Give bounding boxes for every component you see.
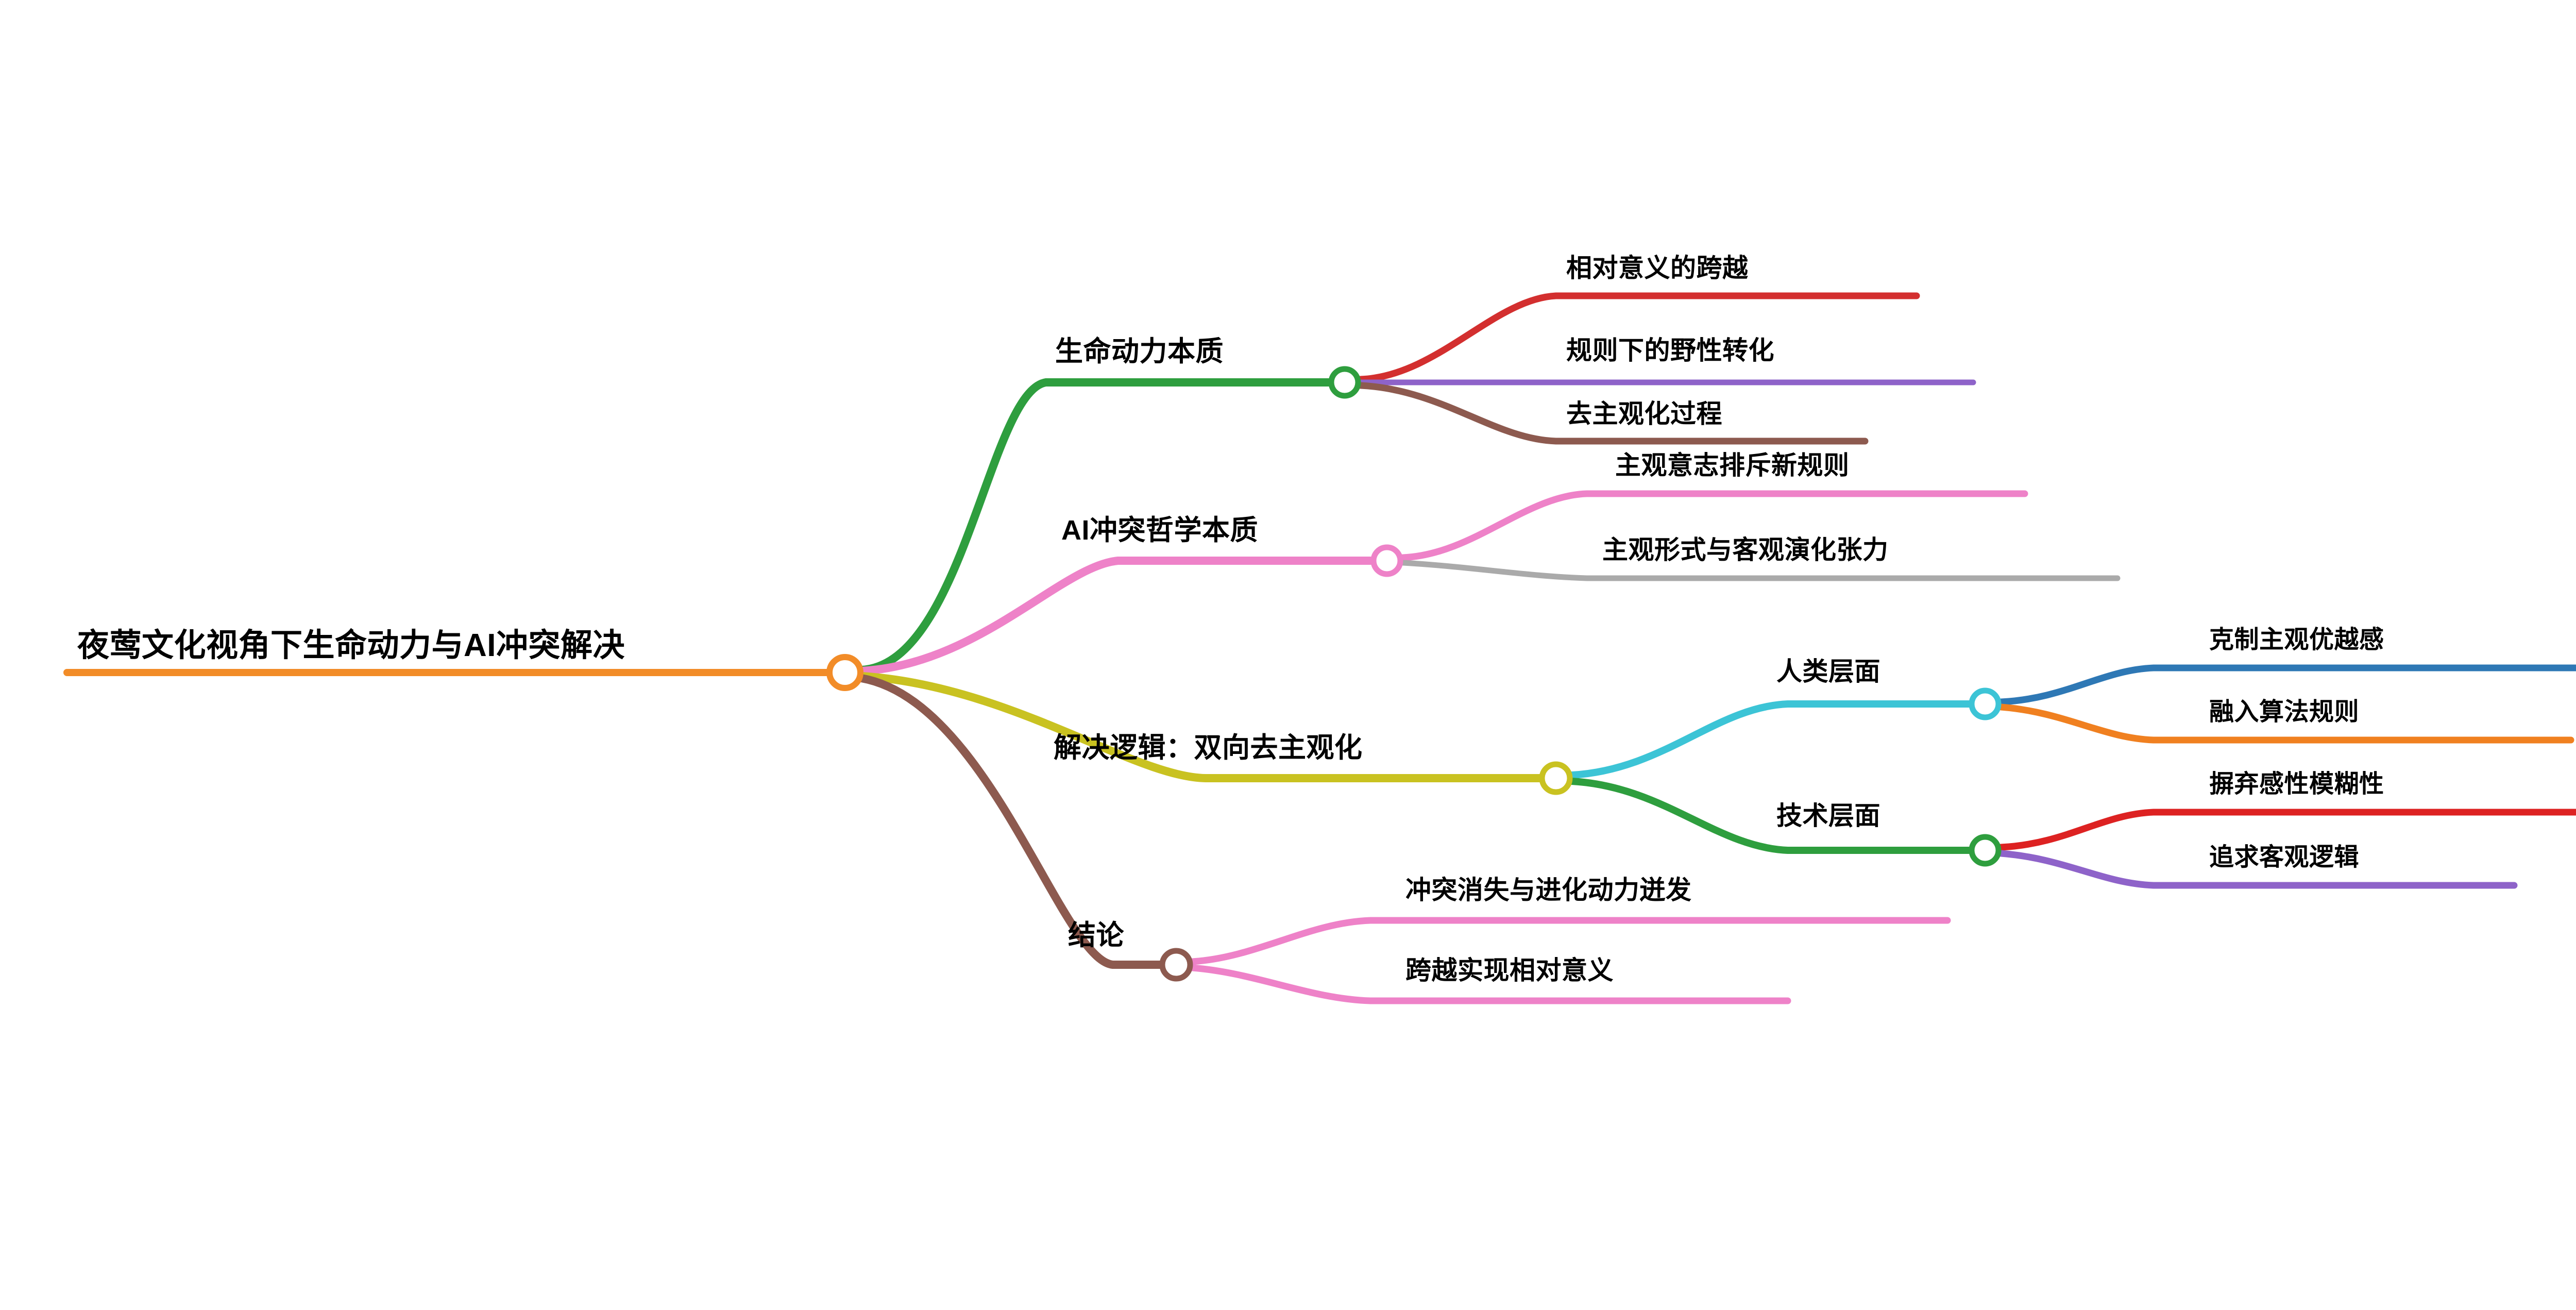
node-circle-b3-c2: [1972, 837, 1998, 864]
edge-b3-c2: [1572, 781, 1969, 850]
node-label-b1-c3[interactable]: 去主观化过程: [1566, 401, 1722, 427]
node-label-b3-c1-g1[interactable]: 克制主观优越感: [2209, 628, 2384, 652]
node-label-branch-2[interactable]: AI冲突哲学本质: [1061, 516, 1258, 544]
node-circle-branch-2: [1374, 547, 1400, 574]
edge-b2-c2: [1403, 563, 2117, 578]
node-label-root[interactable]: 夜莺文化视角下生命动力与AI冲突解决: [77, 630, 625, 662]
node-label-b3-c2-g2[interactable]: 追求客观逻辑: [2209, 845, 2359, 870]
edge-b4-c1: [1192, 920, 1947, 962]
node-label-b3-c2[interactable]: 技术层面: [1776, 803, 1880, 829]
node-circle-root: [829, 657, 860, 688]
node-circle-branch-4: [1162, 951, 1190, 979]
node-label-b1-c2[interactable]: 规则下的野性转化: [1566, 338, 1774, 363]
mindmap-canvas: 夜莺文化视角下生命动力与AI冲突解决 生命动力本质 AI冲突哲学本质 解决逻辑：…: [0, 0, 2576, 1310]
edge-root-to-branch-2: [861, 561, 1370, 671]
node-label-b3-c1[interactable]: 人类层面: [1776, 659, 1880, 684]
edge-b3-c1: [1572, 704, 1969, 775]
node-label-b2-c2[interactable]: 主观形式与客观演化张力: [1602, 537, 1889, 563]
node-circle-b3-c1: [1972, 691, 1998, 717]
node-label-branch-1[interactable]: 生命动力本质: [1055, 338, 1224, 365]
edge-b3-c2-g1: [2001, 812, 2576, 847]
node-label-b4-c2[interactable]: 跨越实现相对意义: [1405, 958, 1614, 983]
node-label-b1-c1[interactable]: 相对意义的跨越: [1566, 255, 1749, 281]
node-label-b3-c1-g2[interactable]: 融入算法规则: [2209, 700, 2359, 725]
node-label-branch-3[interactable]: 解决逻辑：双向去主观化: [1054, 734, 1363, 762]
node-label-b2-c1[interactable]: 主观意志排斥新规则: [1615, 452, 1850, 478]
node-label-branch-4[interactable]: 结论: [1068, 921, 1124, 949]
node-label-b4-c1[interactable]: 冲突消失与进化动力迸发: [1405, 877, 1692, 903]
node-circle-branch-1: [1331, 369, 1358, 396]
node-circle-branch-3: [1542, 764, 1570, 792]
node-label-b3-c2-g1[interactable]: 摒弃感性模糊性: [2209, 772, 2384, 797]
edge-b3-c1-g1: [2001, 668, 2576, 702]
